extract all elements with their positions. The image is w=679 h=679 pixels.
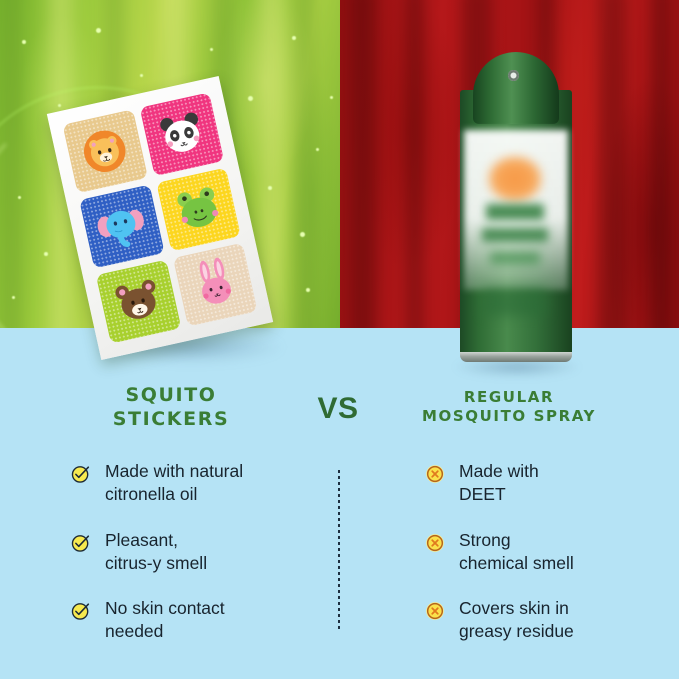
left-title-line-1: SQUITO (36, 384, 306, 408)
list-item-label: Made with DEET (459, 460, 539, 507)
can-label-text-line-3 (490, 252, 540, 264)
list-item: No skin contact needed (70, 597, 320, 644)
left-product-title: SQUITO STICKERS (36, 384, 306, 432)
headings-row: SQUITO STICKERS VS REGULAR MOSQUITO SPRA… (0, 384, 679, 444)
vertical-dotted-divider (338, 470, 340, 632)
frog-icon (167, 178, 230, 240)
list-item: Pleasant, citrus-y smell (70, 529, 320, 576)
panda-icon (150, 103, 213, 165)
list-item-label: No skin contact needed (105, 597, 225, 644)
right-title-line-2: MOSQUITO SPRAY (374, 407, 644, 426)
list-item: Strong chemical smell (424, 529, 664, 576)
x-circle-icon (424, 463, 446, 485)
can-cap (473, 52, 559, 124)
can-label-text-line-2 (482, 228, 548, 242)
can-label-orange-block (488, 156, 542, 202)
check-circle-icon (70, 600, 92, 622)
sticker-frog (156, 168, 241, 252)
list-item-label: Strong chemical smell (459, 529, 574, 576)
sticker-panda (139, 92, 224, 176)
right-title-line-1: REGULAR (374, 388, 644, 407)
list-item-label: Covers skin in greasy residue (459, 597, 574, 644)
comparison-infographic: SQUITO STICKERS VS REGULAR MOSQUITO SPRA… (0, 0, 679, 679)
right-product-title: REGULAR MOSQUITO SPRAY (374, 388, 644, 426)
rabbit-icon (184, 254, 247, 316)
vs-label: VS (288, 392, 388, 426)
list-item-label: Pleasant, citrus-y smell (105, 529, 207, 576)
sticker-bear (96, 260, 181, 344)
elephant-icon (90, 195, 153, 257)
x-circle-icon (424, 600, 446, 622)
left-feature-list: Made with natural citronella oil Pleasan… (70, 460, 320, 666)
lion-icon (74, 120, 137, 182)
list-item: Made with DEET (424, 460, 664, 507)
list-item: Covers skin in greasy residue (424, 597, 664, 644)
sticker-rabbit (173, 243, 258, 327)
check-circle-icon (70, 463, 92, 485)
can-label-text-line-1 (486, 204, 544, 220)
list-item-label: Made with natural citronella oil (105, 460, 243, 507)
can-nozzle-icon (508, 70, 519, 81)
sticker-elephant (79, 185, 164, 269)
bear-icon (107, 271, 170, 333)
check-circle-icon (70, 532, 92, 554)
can-bottom-rim (460, 352, 572, 362)
list-item: Made with natural citronella oil (70, 460, 320, 507)
sticker-lion (63, 109, 148, 193)
can-label-text-line-4 (484, 288, 546, 316)
right-feature-list: Made with DEET Strong chemical smell C (424, 460, 664, 666)
left-title-line-2: STICKERS (36, 408, 306, 432)
x-circle-icon (424, 532, 446, 554)
mosquito-spray-can (460, 52, 572, 364)
